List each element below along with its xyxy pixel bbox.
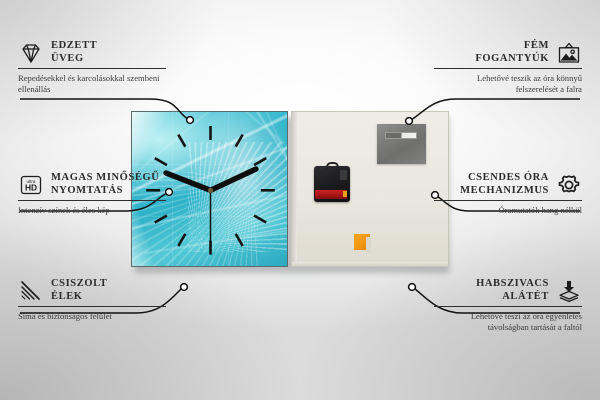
foam-pad (354, 234, 370, 250)
callout-rule (18, 68, 166, 69)
battery (315, 190, 347, 199)
callout-description: Sima és biztonságos felület (18, 311, 166, 322)
diamond-icon (18, 41, 44, 65)
callout-title-line1: MAGAS MINŐSÉGŰ (51, 172, 159, 185)
callout-rule (434, 68, 582, 69)
connector-dot-polished-edges (181, 284, 188, 291)
callout-header: HABSZIVACS ALÁTÉT (434, 278, 582, 303)
picture-hanger-icon (556, 41, 582, 65)
callout-silent-mechanism: CSENDES ÓRA MECHANIZMUS Óramutatók hang … (434, 172, 582, 216)
callout-metal-handles: FÉM FOGANTYÚK Lehetővé teszik az óra kön… (434, 40, 582, 94)
callout-high-quality-print: ultra HD MAGAS MINŐSÉGŰ NYOMTATÁS Intenz… (18, 172, 166, 216)
callout-title-line2: ÜVEG (51, 53, 97, 66)
callout-title-line1: CSENDES ÓRA (460, 172, 549, 185)
callout-description: Óramutatók hang nélkül (434, 205, 582, 216)
callout-rule (18, 200, 166, 201)
callout-title-line1: FÉM (475, 40, 549, 53)
callout-description: Lehetővé teszi az óra egyenletes távolsá… (434, 311, 582, 332)
callout-header: ultra HD MAGAS MINŐSÉGŰ NYOMTATÁS (18, 172, 166, 197)
polished-edge-icon (18, 279, 44, 303)
infographic-canvas: EDZETT ÜVEG Repedésekkel és karcolásokka… (0, 0, 600, 400)
callout-tempered-glass: EDZETT ÜVEG Repedésekkel és karcolásokka… (18, 40, 166, 94)
callout-foam-backing: HABSZIVACS ALÁTÉT Lehetővé teszi az óra … (434, 278, 582, 332)
clock-back-view (291, 111, 449, 267)
callout-header: FÉM FOGANTYÚK (434, 40, 582, 65)
clock-mechanism (314, 166, 350, 202)
callout-header: EDZETT ÜVEG (18, 40, 166, 65)
back-panel-edge-left (292, 112, 297, 266)
callout-rule (18, 306, 166, 307)
callout-title-line2: ALÁTÉT (476, 291, 549, 304)
gear-icon (556, 173, 582, 197)
callout-title-line2: MECHANIZMUS (460, 185, 549, 198)
callout-title-line1: CSISZOLT (51, 278, 107, 291)
callout-header: CSENDES ÓRA MECHANIZMUS (434, 172, 582, 197)
callout-rule (434, 200, 582, 201)
callout-rule (434, 306, 582, 307)
callout-description: Intenzív színek és éles kép (18, 205, 166, 216)
callout-title-line1: EDZETT (51, 40, 97, 53)
callout-title-line2: ÉLEK (51, 291, 107, 304)
product-images (131, 111, 449, 269)
callout-title-line1: HABSZIVACS (476, 278, 549, 291)
hd-label: HD (25, 182, 37, 192)
callout-title-line2: FOGANTYÚK (475, 53, 549, 66)
foam-pad-icon (556, 279, 582, 303)
connector-dot-foam-backing (409, 284, 416, 291)
callout-title-line2: NYOMTATÁS (51, 185, 159, 198)
callout-polished-edges: CSISZOLT ÉLEK Sima és biztonságos felüle… (18, 278, 166, 322)
callout-header: CSISZOLT ÉLEK (18, 278, 166, 303)
mechanism-hanger-loop (326, 162, 339, 170)
back-panel-edge-bottom (292, 262, 448, 266)
callout-description: Repedésekkel és karcolásokkal szembeni e… (18, 73, 166, 94)
metal-hanger-plate (377, 124, 426, 164)
ultra-hd-icon: ultra HD (18, 173, 44, 197)
callout-description: Lehetővé teszik az óra könnyű felszerelé… (434, 73, 582, 94)
mechanism-knob (340, 170, 347, 180)
